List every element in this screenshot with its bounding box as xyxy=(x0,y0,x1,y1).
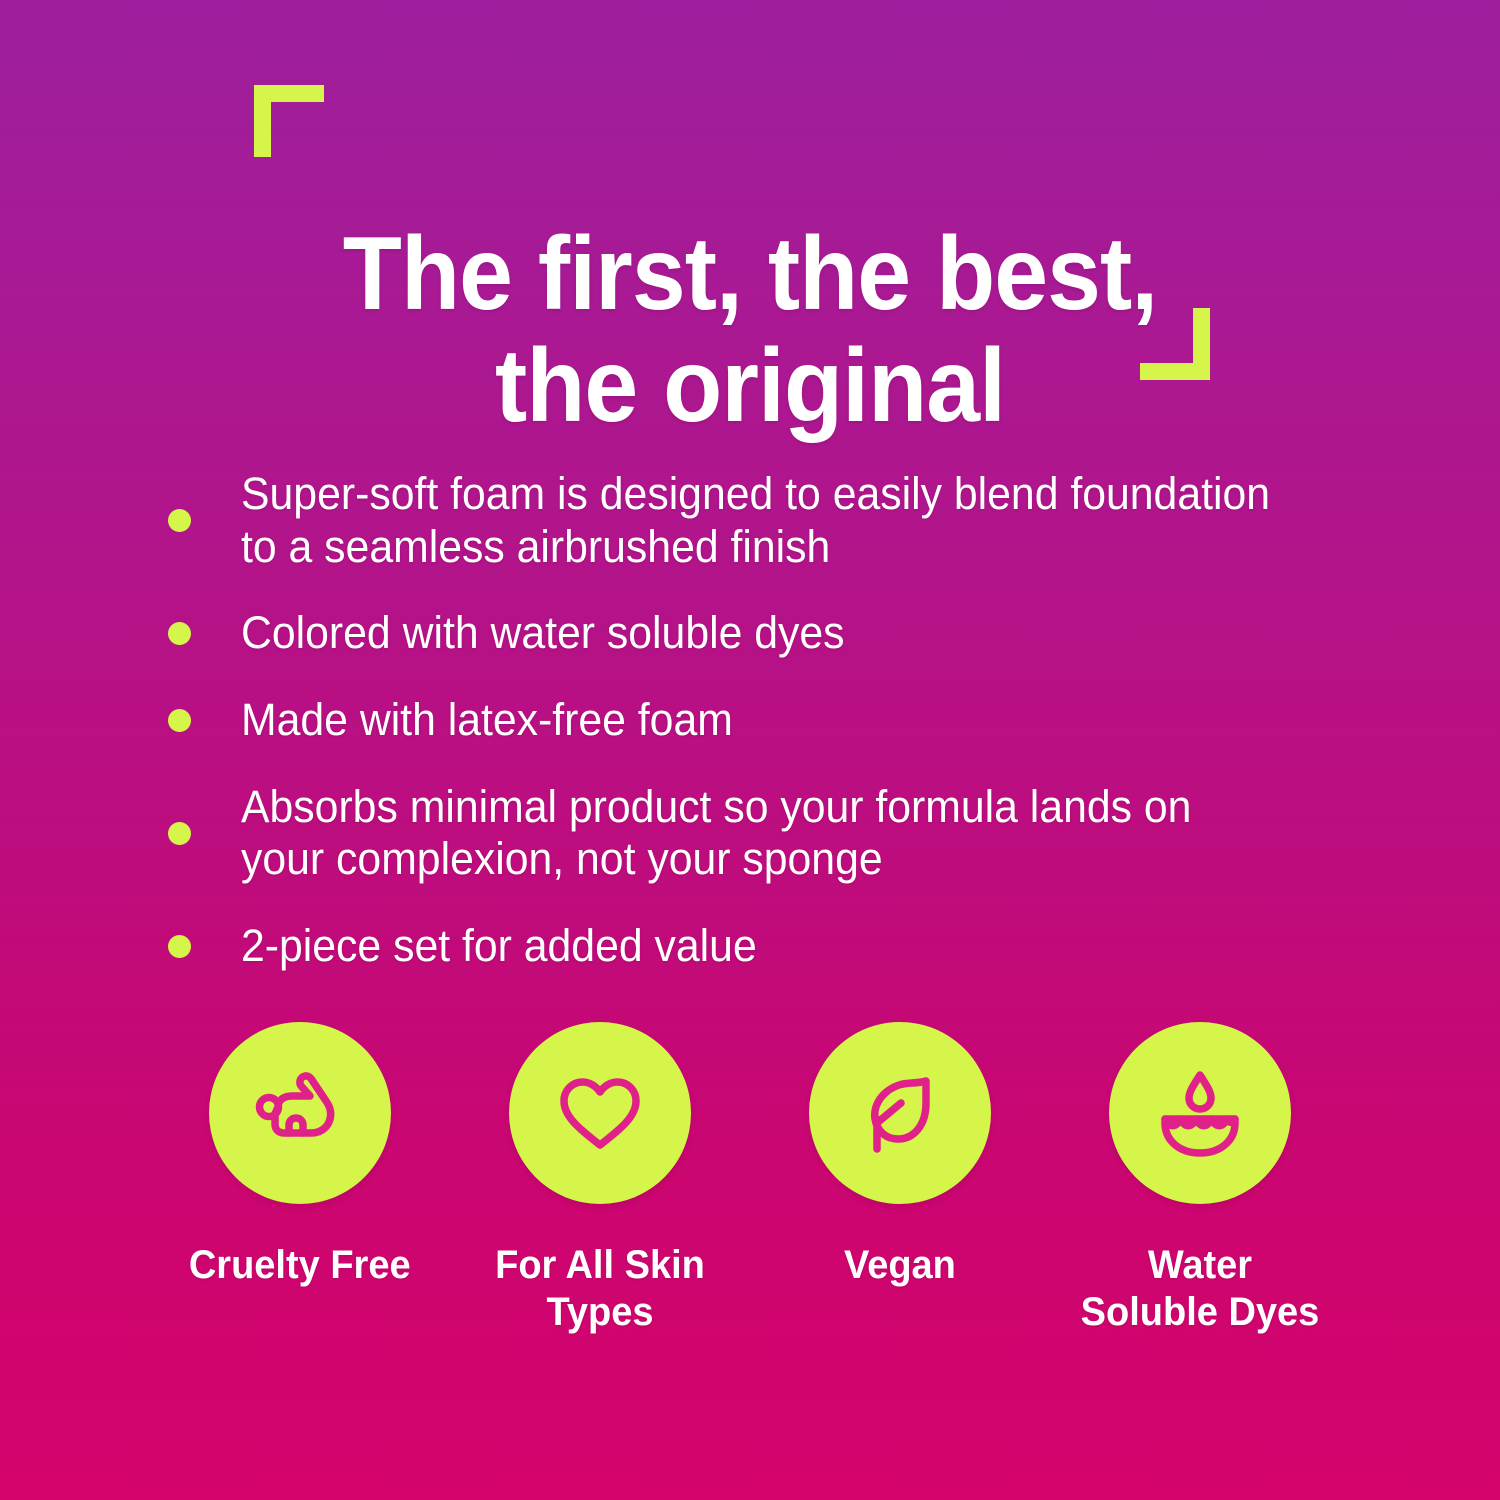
badge-for-all-skin-types: For All Skin Types xyxy=(450,1022,750,1336)
list-item: Made with latex-free foam xyxy=(168,694,1328,747)
badge-circle xyxy=(509,1022,691,1204)
bullet-dot-icon xyxy=(168,622,191,645)
badge-water-soluble-dyes: Water Soluble Dyes xyxy=(1050,1022,1350,1336)
water-drop-bowl-icon xyxy=(1144,1057,1256,1169)
headline-line-1: The first, the best, xyxy=(53,218,1448,330)
list-item: 2-piece set for added value xyxy=(168,920,1328,973)
badge-label: Cruelty Free xyxy=(189,1242,411,1289)
badge-cruelty-free: Cruelty Free xyxy=(150,1022,450,1336)
badge-circle xyxy=(209,1022,391,1204)
bullet-dot-icon xyxy=(168,822,191,845)
badge-label: Water Soluble Dyes xyxy=(1077,1242,1324,1336)
product-feature-poster: The first, the best, the original Super-… xyxy=(0,0,1500,1500)
list-item: Super-soft foam is designed to easily bl… xyxy=(168,468,1328,573)
list-item: Absorbs minimal product so your formula … xyxy=(168,781,1328,886)
bullet-dot-icon xyxy=(168,709,191,732)
badge-label: For All Skin Types xyxy=(477,1242,724,1336)
badge-circle xyxy=(809,1022,991,1204)
list-item: Colored with water soluble dyes xyxy=(168,607,1328,660)
bullet-text: Made with latex-free foam xyxy=(241,694,733,747)
badge-circle xyxy=(1109,1022,1291,1204)
feature-bullet-list: Super-soft foam is designed to easily bl… xyxy=(168,468,1328,972)
corner-bracket-top-left-icon xyxy=(254,85,324,157)
certification-badge-row: Cruelty Free For All Skin Types xyxy=(150,1022,1350,1336)
headline-line-2: the original xyxy=(53,330,1448,442)
badge-label: Vegan xyxy=(844,1242,956,1289)
bullet-text: Colored with water soluble dyes xyxy=(241,607,845,660)
bullet-dot-icon xyxy=(168,509,191,532)
bullet-text: Super-soft foam is designed to easily bl… xyxy=(241,468,1274,573)
rabbit-icon xyxy=(244,1057,356,1169)
bullet-text: 2-piece set for added value xyxy=(241,920,757,973)
bullet-text: Absorbs minimal product so your formula … xyxy=(241,781,1274,886)
page-title: The first, the best, the original xyxy=(53,218,1448,443)
leaf-icon xyxy=(844,1057,956,1169)
badge-vegan: Vegan xyxy=(750,1022,1050,1336)
heart-icon xyxy=(544,1057,656,1169)
bullet-dot-icon xyxy=(168,935,191,958)
